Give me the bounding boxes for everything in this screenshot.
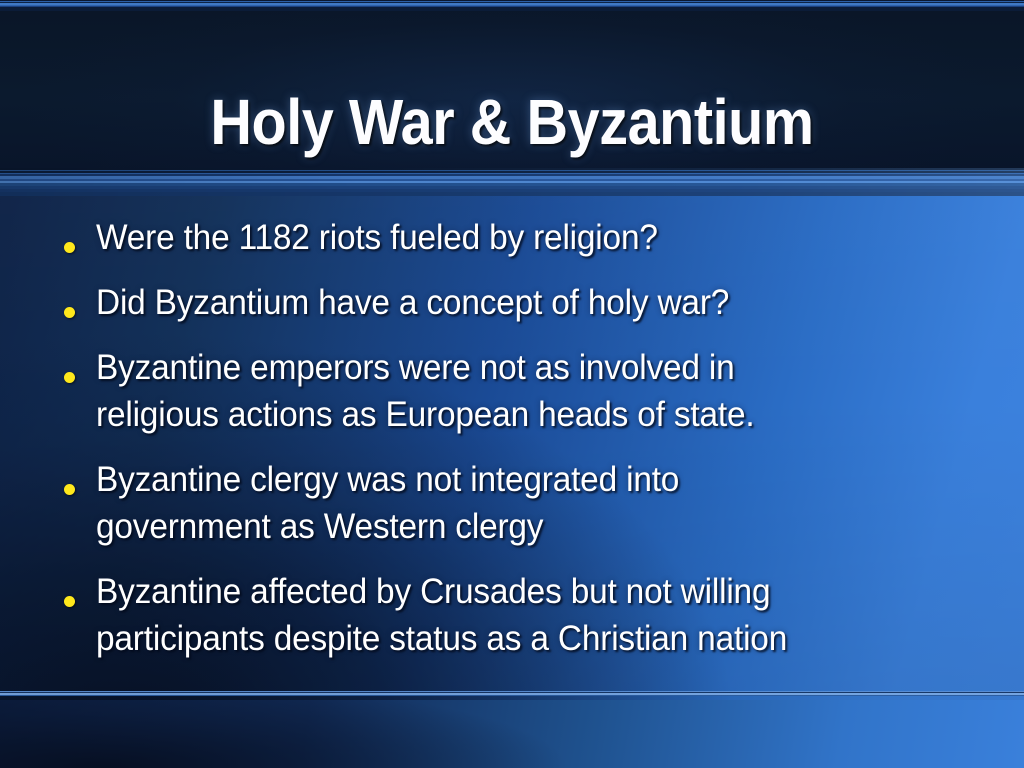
bullet-line: Were the 1182 riots fueled by religion? — [96, 214, 948, 261]
title-divider-stripe-shading — [0, 168, 1024, 196]
bullet-item: Byzantine clergy was not integrated into… — [58, 456, 988, 550]
bullet-text: Did Byzantium have a concept of holy war… — [96, 279, 948, 326]
bullet-list: Were the 1182 riots fueled by religion? … — [58, 214, 988, 680]
bullet-dot-icon — [64, 596, 75, 607]
bullet-line: Byzantine affected by Crusades but not w… — [96, 568, 948, 615]
slide-body: Were the 1182 riots fueled by religion? … — [0, 196, 1024, 690]
bullet-text: Byzantine affected by Crusades but not w… — [96, 568, 948, 662]
bullet-line: religious actions as European heads of s… — [96, 391, 948, 438]
bullet-dot-icon — [64, 484, 75, 495]
top-stripe-band — [0, 0, 1024, 11]
presentation-slide: Holy War & Byzantium Were the 1182 riots… — [0, 0, 1024, 768]
bullet-line: government as Western clergy — [96, 503, 948, 550]
bullet-line: Did Byzantium have a concept of holy war… — [96, 279, 948, 326]
bullet-item: Byzantine affected by Crusades but not w… — [58, 568, 988, 662]
bullet-line: participants despite status as a Christi… — [96, 615, 948, 662]
bullet-line: Byzantine clergy was not integrated into — [96, 456, 948, 503]
slide-title: Holy War & Byzantium — [51, 90, 973, 154]
bullet-item: Were the 1182 riots fueled by religion? — [58, 214, 988, 261]
bullet-item: Byzantine emperors were not as involved … — [58, 344, 988, 438]
bullet-line: Byzantine emperors were not as involved … — [96, 344, 948, 391]
bullet-dot-icon — [64, 372, 75, 383]
bullet-dot-icon — [64, 307, 75, 318]
bullet-item: Did Byzantium have a concept of holy war… — [58, 279, 988, 326]
bullet-dot-icon — [64, 242, 75, 253]
bullet-text: Byzantine emperors were not as involved … — [96, 344, 948, 438]
bottom-divider-stripe — [0, 690, 1024, 700]
bullet-text: Were the 1182 riots fueled by religion? — [96, 214, 948, 261]
bullet-text: Byzantine clergy was not integrated into… — [96, 456, 948, 550]
footer-band-vignette — [0, 700, 1024, 768]
